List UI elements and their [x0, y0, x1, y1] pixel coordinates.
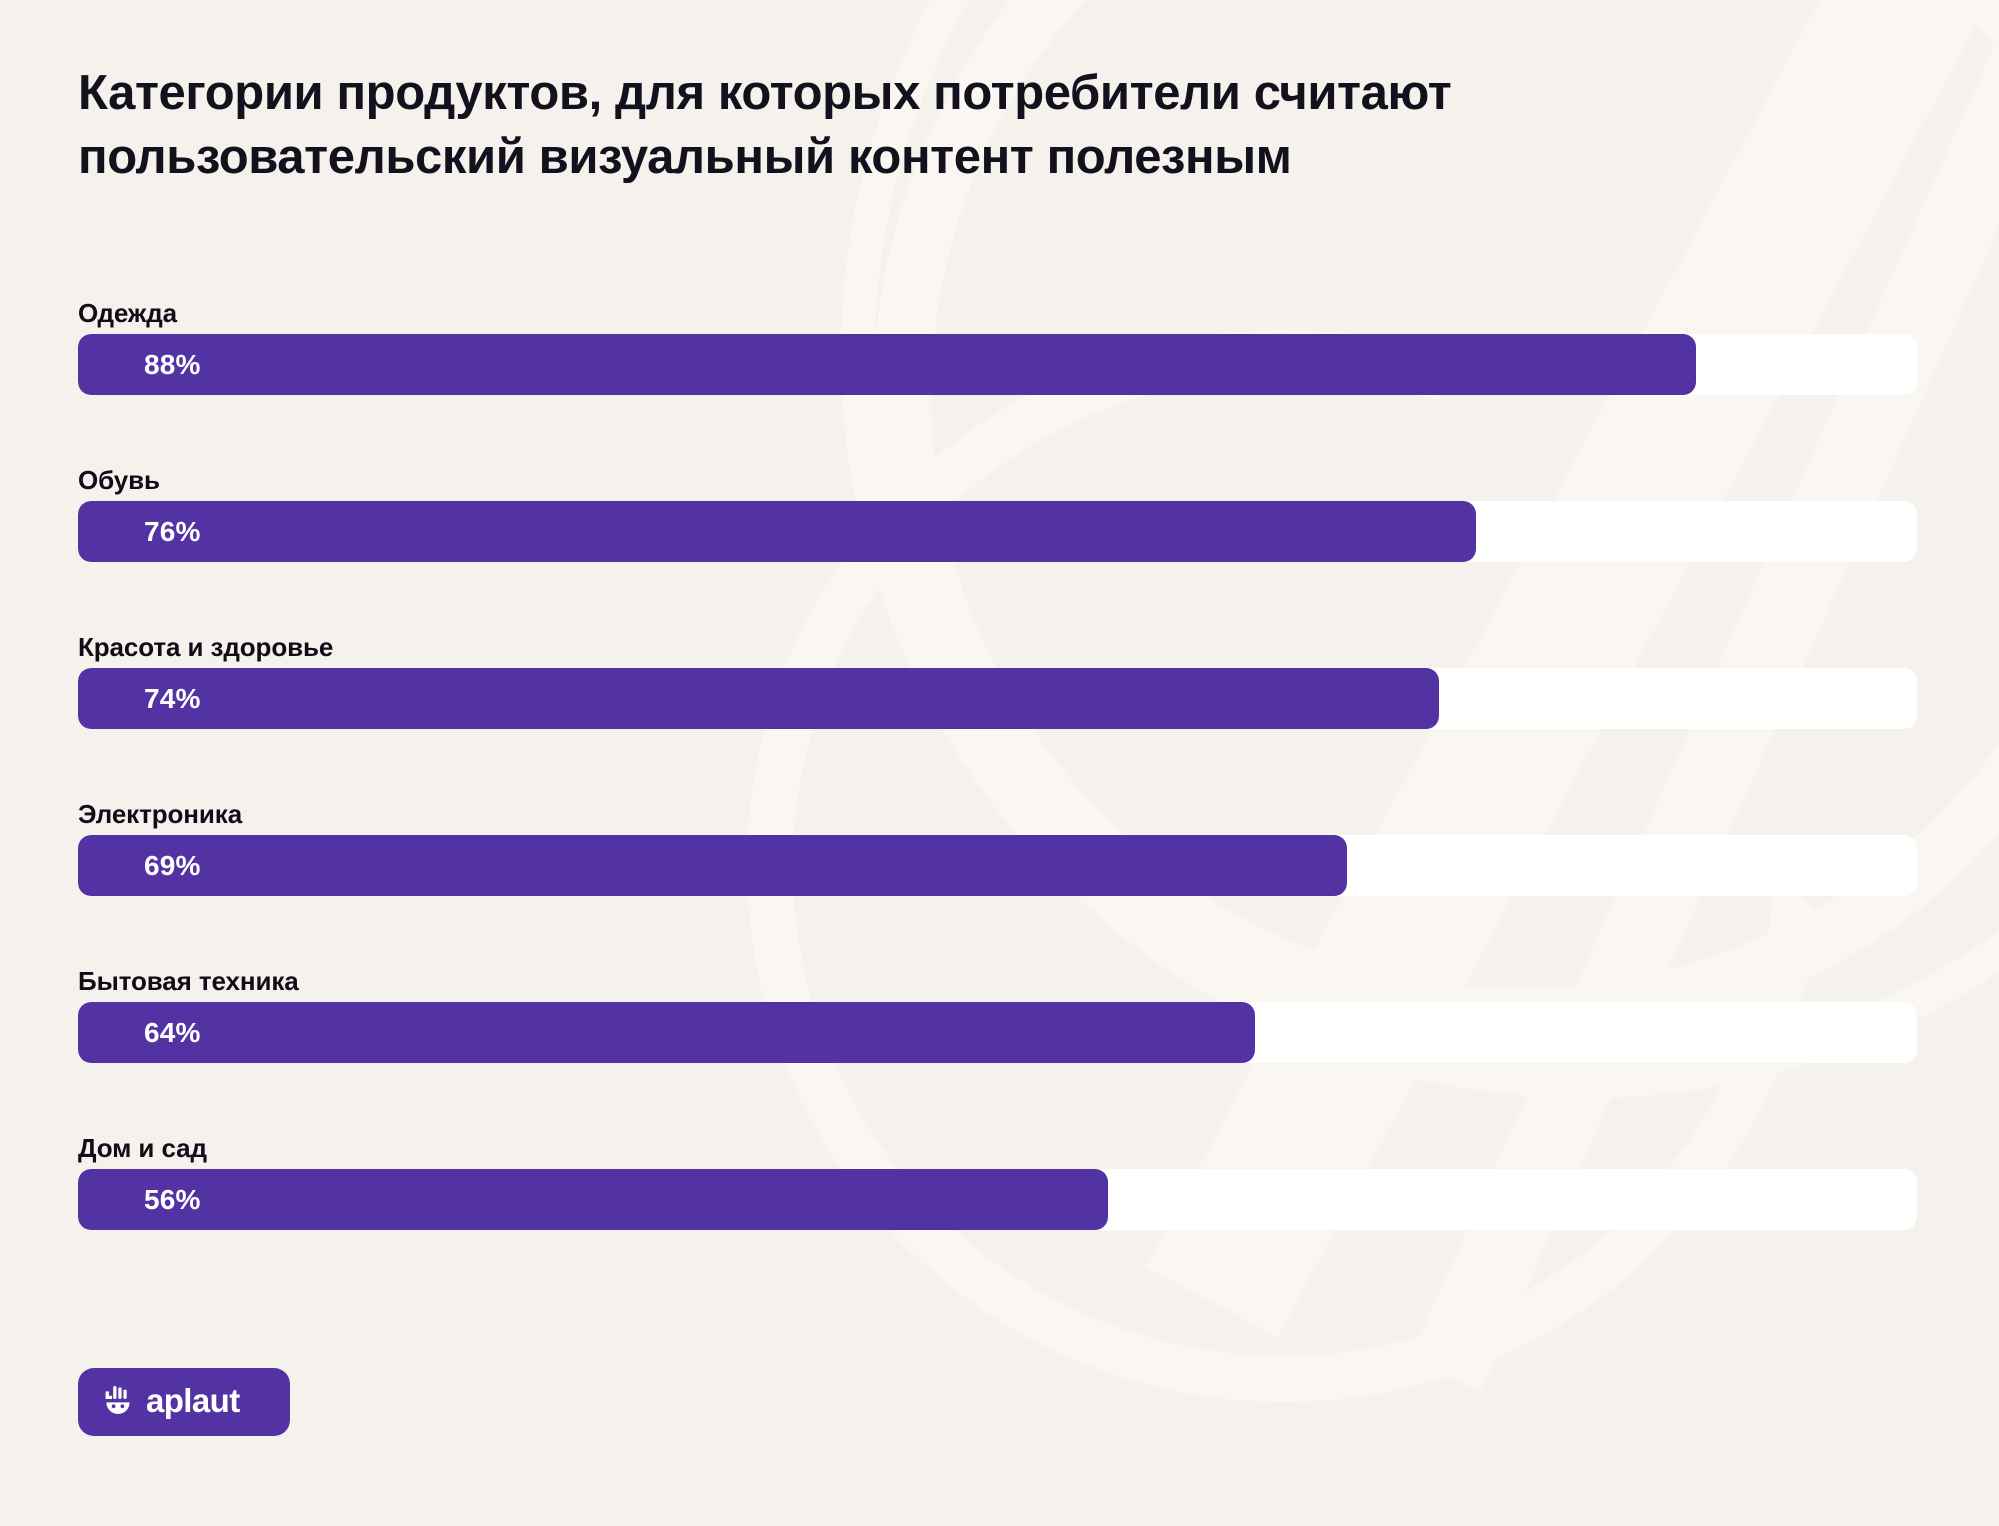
bar-group: Красота и здоровье 74%: [78, 634, 1917, 801]
bar-group: Одежда 88%: [78, 300, 1917, 467]
infographic-canvas: Категории продуктов, для которых потреби…: [0, 0, 1999, 1526]
bar-track: 88%: [78, 334, 1917, 395]
bar-category-label: Обувь: [78, 467, 1917, 501]
logo-wordmark: aplaut: [146, 1384, 240, 1417]
bar-fill: 76%: [78, 501, 1476, 562]
bar-value-label: 88%: [78, 349, 201, 381]
chart-title: Категории продуктов, для которых потреби…: [78, 62, 1868, 189]
bar-group: Обувь 76%: [78, 467, 1917, 634]
bar-track: 64%: [78, 1002, 1917, 1063]
bar-category-label: Одежда: [78, 300, 1917, 334]
bar-value-label: 76%: [78, 516, 201, 548]
bar-fill: 74%: [78, 668, 1439, 729]
bar-category-label: Электроника: [78, 801, 1917, 835]
bar-fill: 69%: [78, 835, 1347, 896]
bar-track: 56%: [78, 1169, 1917, 1230]
bar-value-label: 69%: [78, 850, 201, 882]
bar-track: 69%: [78, 835, 1917, 896]
infographic-content: Категории продуктов, для которых потреби…: [0, 0, 1999, 1526]
bar-group: Бытовая техника 64%: [78, 968, 1917, 1135]
bar-track: 74%: [78, 668, 1917, 729]
bar-value-label: 64%: [78, 1017, 201, 1049]
bar-category-label: Дом и сад: [78, 1135, 1917, 1169]
bar-group: Электроника 69%: [78, 801, 1917, 968]
bar-fill: 88%: [78, 334, 1696, 395]
bar-chart: Одежда 88% Обувь 76% Красота и здоровье: [78, 300, 1917, 1302]
bar-group: Дом и сад 56%: [78, 1135, 1917, 1302]
bar-track: 76%: [78, 501, 1917, 562]
bar-category-label: Бытовая техника: [78, 968, 1917, 1002]
hand-icon: [100, 1384, 136, 1420]
bar-category-label: Красота и здоровье: [78, 634, 1917, 668]
bar-fill: 64%: [78, 1002, 1255, 1063]
bar-value-label: 74%: [78, 683, 201, 715]
aplaut-logo: aplaut: [78, 1368, 290, 1436]
bar-fill: 56%: [78, 1169, 1108, 1230]
bar-value-label: 56%: [78, 1184, 201, 1216]
